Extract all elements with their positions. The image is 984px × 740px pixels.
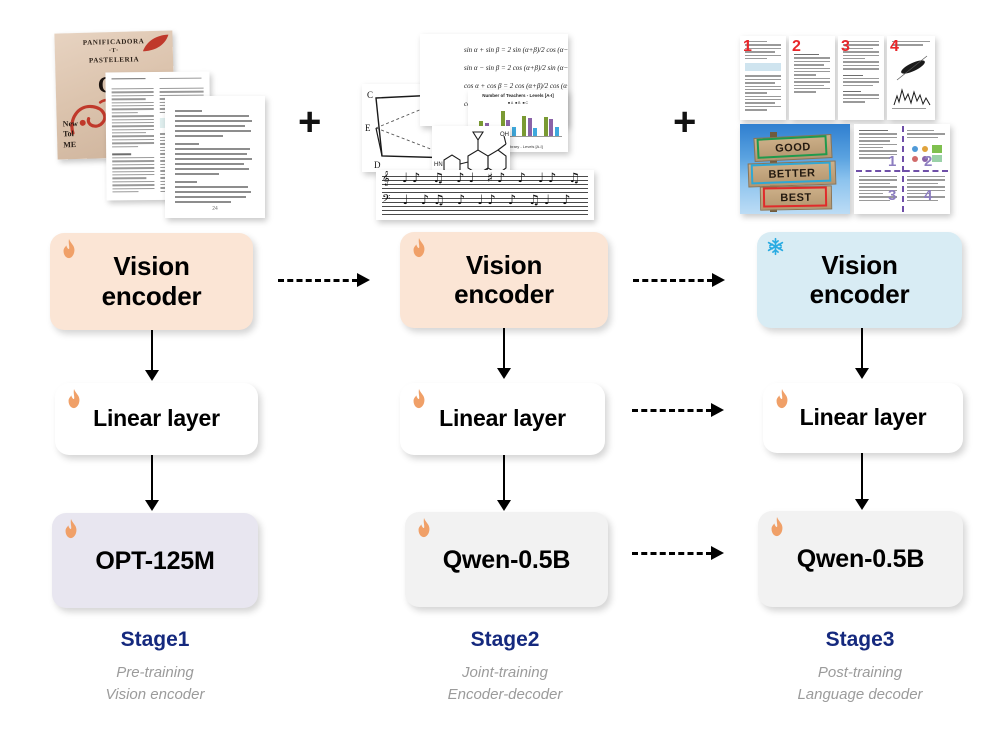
plus-operator-1: + <box>298 102 321 142</box>
stage3-connector-linear-to-lm <box>861 453 863 501</box>
stage2-name: Stage2 <box>355 628 655 652</box>
stage2-arrowhead-2 <box>497 500 511 511</box>
quadrant-number-3: 3 <box>888 188 896 203</box>
formula-2: sin α − sin β = 2 cos (α+β)/2 sin (α−β)/… <box>464 64 568 72</box>
chinese-doc-page-number: 24 <box>165 206 265 212</box>
stage2-linear-layer-label: Linear layer <box>439 406 566 432</box>
stage3-linear-layer-block[interactable]: Linear layer <box>763 383 963 453</box>
chinese-doc-body <box>175 110 255 203</box>
flame-icon <box>409 237 431 261</box>
diagram-canvas: PANIFICADORA ·T· PASTELERIA CE NewTolME <box>0 0 984 740</box>
paper-column-left <box>112 88 155 193</box>
stage1-subtitle-2: Vision encoder <box>5 684 305 706</box>
flame-icon <box>772 388 794 412</box>
flame-icon <box>409 388 431 412</box>
stage3-subtitle-1: Post-training <box>710 662 984 684</box>
stage2-data-stack: C B E D sin α + sin β = 2 sin (α+β)/2 co… <box>358 28 608 220</box>
stage3-data-stack: 1 2 3 <box>736 32 954 218</box>
svg-text:C: C <box>367 90 373 100</box>
poster-sub-text: PASTELERIA <box>55 54 173 65</box>
stage3-connector-encoder-to-linear <box>861 328 863 370</box>
page-order-number-4: 4 <box>890 39 899 55</box>
flame-icon <box>414 517 436 541</box>
stage3-name: Stage3 <box>710 628 984 652</box>
scatter-plot-thumb <box>893 52 931 82</box>
quadrant-number-1: 1 <box>888 154 896 169</box>
page-2-lines <box>794 54 830 93</box>
stage3-arrowhead-1 <box>855 368 869 379</box>
stage1-linear-layer-label: Linear layer <box>93 406 220 432</box>
grounding-box-better <box>751 162 832 185</box>
stage1-language-model-label: OPT-125M <box>95 547 214 575</box>
paper-header-left <box>111 78 153 80</box>
stage2-language-model-block[interactable]: Qwen-0.5B <box>405 512 608 607</box>
transition-vision-encoder-stage2-to-stage3 <box>633 273 725 287</box>
flame-icon <box>59 238 81 262</box>
stage2-vision-encoder-block[interactable]: Visionencoder <box>400 232 608 328</box>
quadrant-document: 1 2 3 4 <box>854 124 950 214</box>
stage1-arrowhead-1 <box>145 370 159 381</box>
numbered-page-4: 4 <box>887 36 935 120</box>
bar-group <box>544 110 559 136</box>
grounding-box-best <box>763 186 827 207</box>
page-order-number-1: 1 <box>743 39 752 55</box>
stage3-language-model-block[interactable]: Qwen-0.5B <box>758 511 963 607</box>
stage3-language-model-label: Qwen-0.5B <box>797 545 924 573</box>
page-4-caption <box>892 108 930 109</box>
stage1-arrowhead-2 <box>145 500 159 511</box>
stage1-connector-linear-to-lm <box>151 455 153 502</box>
spectrum-plot-thumb <box>893 86 931 106</box>
stage2-vision-encoder-label: Visionencoder <box>454 251 554 309</box>
transition-language-model-stage2-to-stage3 <box>632 546 724 560</box>
stage2-linear-layer-block[interactable]: Linear layer <box>400 383 605 455</box>
stage1-linear-layer-block[interactable]: Linear layer <box>55 383 258 455</box>
plus-operator-2: + <box>673 102 696 142</box>
formula-3: cos α + cos β = 2 cos (α+β)/2 cos (α−β)/… <box>464 82 568 90</box>
stage3-subtitle-2: Language decoder <box>710 684 984 706</box>
stage2-caption: Stage2 Joint-training Encoder-decoder <box>355 628 655 706</box>
stage1-name: Stage1 <box>5 628 305 652</box>
numbered-page-2: 2 <box>789 36 835 120</box>
page-order-number-2: 2 <box>792 39 801 55</box>
transition-vision-encoder-stage1-to-stage2 <box>278 273 370 287</box>
stage2-connector-linear-to-lm <box>503 455 505 502</box>
stage2-connector-encoder-to-linear <box>503 328 505 370</box>
flame-icon <box>767 516 789 540</box>
poster-bottom-text: NewTolME <box>63 119 79 152</box>
stage2-subtitle-1: Joint-training <box>355 662 655 684</box>
quadrant-number-4: 4 <box>924 188 932 203</box>
stage2-arrowhead-1 <box>497 368 511 379</box>
flame-icon <box>64 388 86 412</box>
stage3-linear-layer-label: Linear layer <box>800 405 927 431</box>
chinese-document-page: 24 <box>165 96 265 218</box>
formula-1: sin α + sin β = 2 sin (α+β)/2 cos (α−β)/… <box>464 46 568 54</box>
stage1-subtitle-1: Pre-training <box>5 662 305 684</box>
svg-text:E: E <box>365 123 371 133</box>
svg-text:OH: OH <box>500 132 509 138</box>
quadrant-divider-vertical <box>902 126 904 212</box>
svg-text:D: D <box>374 160 381 170</box>
numbered-page-1: 1 <box>740 36 786 120</box>
stage1-vision-encoder-label: Visionencoder <box>102 252 202 310</box>
grounding-box-good <box>757 135 828 159</box>
page-order-number-3: 3 <box>841 39 850 55</box>
svg-text:HN: HN <box>434 162 443 168</box>
stage1-data-stack: PANIFICADORA ·T· PASTELERIA CE NewTolME <box>48 28 268 218</box>
treble-notes: 𝄞 ♩♪ ♫ ♪♩ ♯♪ ♪ ♩♪ ♫ <box>382 171 584 186</box>
paper-header-right <box>159 78 203 80</box>
transition-linear-layer-stage2-to-stage3 <box>632 403 724 417</box>
stage1-vision-encoder-block[interactable]: Visionencoder <box>50 233 253 330</box>
bass-notes: 𝄢 ♩ ♪♫ ♪ ♩♪ ♪ ♫♩ ♪ <box>382 193 574 208</box>
snowflake-icon <box>766 237 788 261</box>
sheet-music: 𝄞 ♩♪ ♫ ♪♩ ♯♪ ♪ ♩♪ ♫ 𝄢 ♩ ♪♫ ♪ ♩♪ ♪ ♫♩ ♪ <box>376 170 594 220</box>
quad-text-2 <box>907 130 945 138</box>
stage1-caption: Stage1 Pre-training Vision encoder <box>5 628 305 706</box>
stage3-arrowhead-2 <box>855 499 869 510</box>
bar-group <box>522 110 537 136</box>
stage1-language-model-block[interactable]: OPT-125M <box>52 513 258 608</box>
stage3-caption: Stage3 Post-training Language decoder <box>710 628 984 706</box>
stage3-vision-encoder-label: Visionencoder <box>810 251 910 309</box>
stage2-subtitle-2: Encoder-decoder <box>355 684 655 706</box>
quadrant-number-2: 2 <box>924 154 932 169</box>
poster-leaf-icon <box>140 33 171 56</box>
good-better-best-photo: GOOD BETTER BEST <box>740 124 850 214</box>
flame-icon <box>61 518 83 542</box>
numbered-page-3: 3 <box>838 36 884 120</box>
stage3-vision-encoder-block[interactable]: Visionencoder <box>757 232 962 328</box>
stage1-connector-encoder-to-linear <box>151 330 153 372</box>
chart-title: Number of Teachers - Levels [A-I] <box>468 93 568 98</box>
stage2-language-model-label: Qwen-0.5B <box>443 546 570 574</box>
chart-legend: ■ A ■ B ■ C <box>468 101 568 105</box>
